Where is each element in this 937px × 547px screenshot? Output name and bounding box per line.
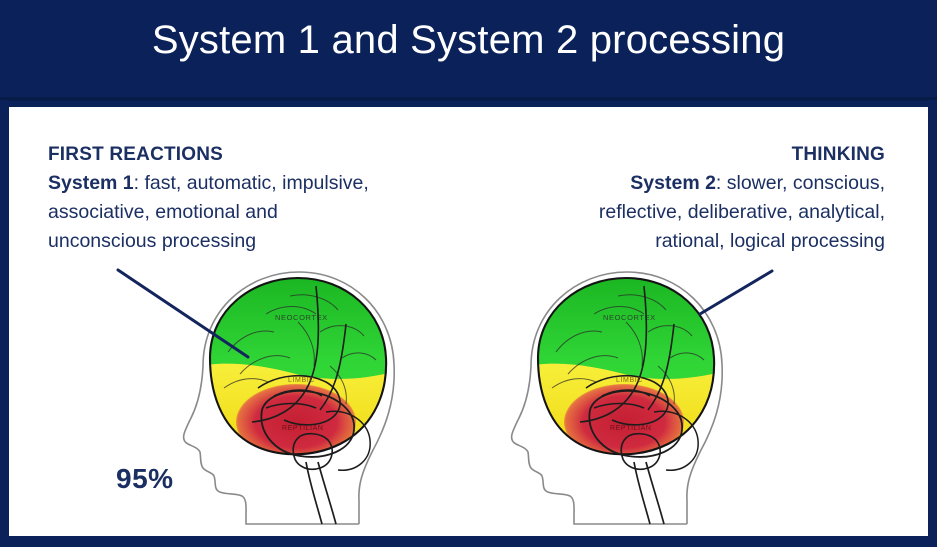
label-limbic: LIMBIC [288,377,315,384]
label-reptilian: REPTILIAN [282,425,324,432]
right-line-3: rational, logical processing [465,227,885,256]
left-system-rest: : fast, automatic, impulsive, [134,172,369,194]
slide-canvas: System 1 and System 2 processing FIRST R… [0,0,937,547]
banner-accent-stripe [0,97,937,101]
brain-stem [306,462,336,524]
label-neocortex: NEOCORTEX [603,313,656,322]
left-text-block: FIRST REACTIONS System 1: fast, automati… [48,140,468,256]
right-text-block: THINKING System 2: slower, conscious, re… [465,140,885,256]
brain-diagram-right: NEOCORTEX LIMBIC REPTILIAN [498,262,758,527]
left-line-2: associative, emotional and [48,198,468,227]
brain-stem [634,462,664,524]
right-system-label: System 2 [630,172,716,194]
label-limbic: LIMBIC [616,377,643,384]
right-system-line: System 2: slower, conscious, [465,169,885,198]
percent-label: 95% [116,463,174,495]
left-system-line: System 1: fast, automatic, impulsive, [48,169,468,198]
right-heading: THINKING [465,140,885,169]
brain-diagram-left: NEOCORTEX LIMBIC REPTILIAN [170,262,430,527]
frame-border-bottom [0,536,937,547]
left-line-3: unconscious processing [48,227,468,256]
left-heading: FIRST REACTIONS [48,140,468,169]
right-system-rest: : slower, conscious, [716,172,885,194]
frame-border-left [0,100,9,547]
page-title: System 1 and System 2 processing [0,18,937,62]
right-line-2: reflective, deliberative, analytical, [465,198,885,227]
left-system-label: System 1 [48,172,134,194]
label-reptilian: REPTILIAN [610,425,652,432]
label-neocortex: NEOCORTEX [275,313,328,322]
frame-border-right [928,100,937,547]
